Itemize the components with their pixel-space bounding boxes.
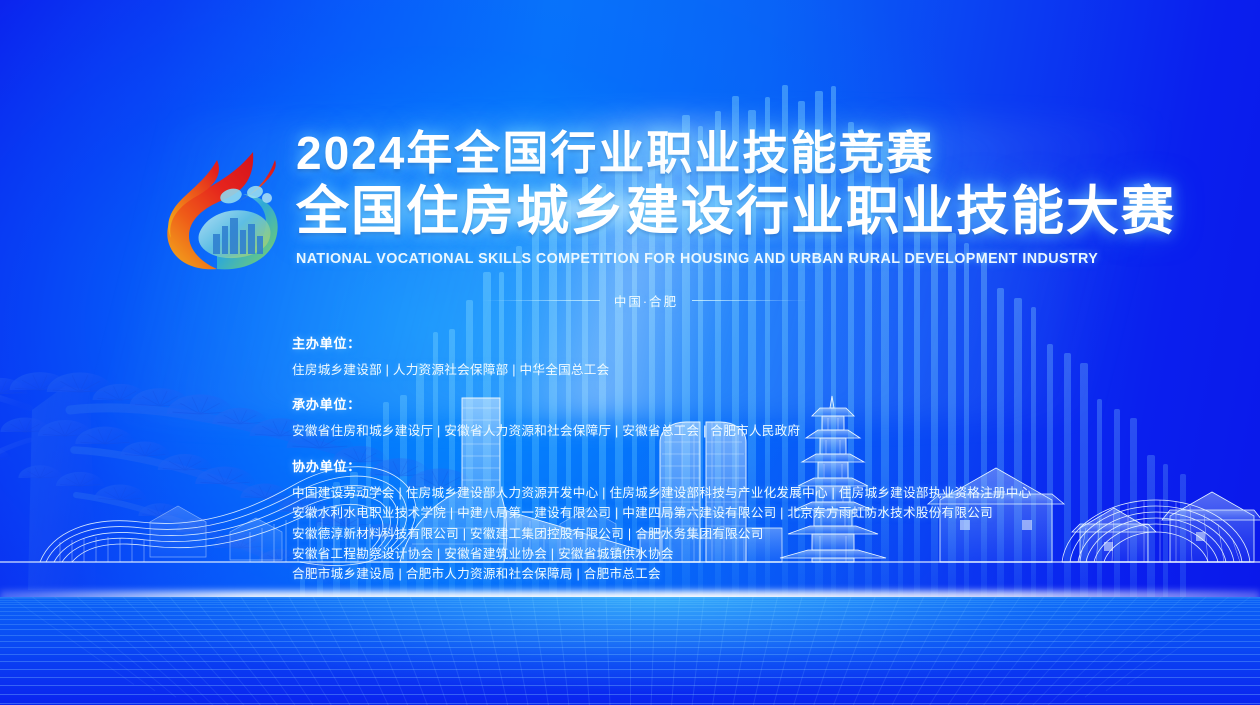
coorganizer-line: 安徽水利水电职业技术学院 | 中建八局第一建设有限公司 | 中建四局第六建设有限… (292, 503, 1072, 523)
coorganizer-line: 安徽德淳新材料科技有限公司 | 安徽建工集团控股有限公司 | 合肥水务集团有限公… (292, 524, 1072, 544)
poster-canvas: 2024年全国行业职业技能竞赛 全国住房城乡建设行业职业技能大赛 NATIONA… (0, 0, 1260, 705)
coorganizer-label: 协办单位： (292, 456, 1072, 475)
title-block: 2024年全国行业职业技能竞赛 全国住房城乡建设行业职业技能大赛 NATIONA… (296, 130, 1136, 267)
coorganizer-line: 中国建设劳动学会 | 住房城乡建设部人力资源开发中心 | 住房城乡建设部科技与产… (292, 483, 1072, 503)
coorganizer-values: 中国建设劳动学会 | 住房城乡建设部人力资源开发中心 | 住房城乡建设部科技与产… (292, 483, 1072, 585)
organizer-label: 承办单位： (292, 394, 1072, 413)
organizer-value: 安徽省住房和城乡建设厅 | 安徽省人力资源和社会保障厅 | 安徽省总工会 | 合… (292, 421, 1072, 441)
coorganizer-line: 安徽省工程勘察设计协会 | 安徽省建筑业协会 | 安徽省城镇供水协会 (292, 544, 1072, 564)
host-value: 住房城乡建设部 | 人力资源社会保障部 | 中华全国总工会 (292, 360, 1072, 380)
place-label: 中国·合肥 (614, 291, 678, 310)
title-english: NATIONAL VOCATIONAL SKILLS COMPETITION F… (296, 251, 1136, 267)
place-rule-left (482, 300, 600, 301)
flame-torch-city-emblem (157, 138, 297, 278)
coorganizer-line: 合肥市城乡建设局 | 合肥市人力资源和社会保障局 | 合肥市总工会 (292, 564, 1072, 584)
place-row: 中国·合肥 (296, 291, 996, 310)
host-label: 主办单位： (292, 333, 1072, 352)
title-line-1: 2024年全国行业职业技能竞赛 (296, 130, 1136, 176)
title-line-2: 全国住房城乡建设行业职业技能大赛 (296, 185, 1136, 238)
place-rule-right (692, 300, 810, 301)
organizers-block: 主办单位： 住房城乡建设部 | 人力资源社会保障部 | 中华全国总工会 承办单位… (292, 333, 1072, 585)
